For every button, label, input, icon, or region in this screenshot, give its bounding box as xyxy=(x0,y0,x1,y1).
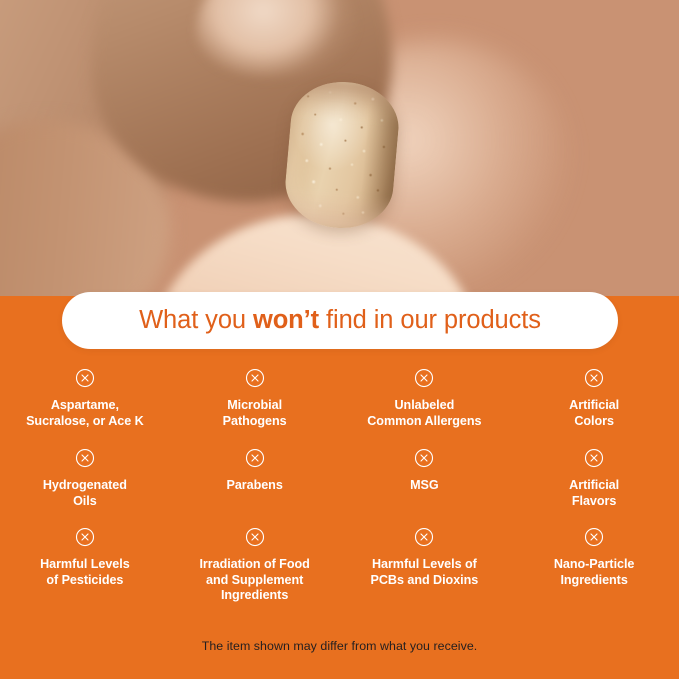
exclusion-item: Harmful Levels of PCBs and Dioxins xyxy=(340,527,510,613)
page-title: What you won’t find in our products xyxy=(139,306,541,335)
exclusion-label: Parabens xyxy=(226,478,282,494)
exclusions-row: Harmful Levels of Pesticides Irradiation… xyxy=(0,527,679,613)
exclusions-row: Aspartame, Sucralose, or Ace K Microbial… xyxy=(0,368,679,448)
circle-x-icon xyxy=(414,368,434,388)
circle-x-icon xyxy=(245,448,265,468)
exclusion-item: Hydrogenated Oils xyxy=(0,448,170,527)
exclusion-item: Harmful Levels of Pesticides xyxy=(0,527,170,613)
circle-x-icon xyxy=(75,527,95,547)
headline-prefix: What you xyxy=(139,306,253,334)
exclusion-label: Hydrogenated Oils xyxy=(43,478,127,509)
exclusion-item: Aspartame, Sucralose, or Ace K xyxy=(0,368,170,448)
exclusion-item: Unlabeled Common Allergens xyxy=(340,368,510,448)
exclusion-label: Irradiation of Food and Supplement Ingre… xyxy=(199,557,309,604)
circle-x-icon xyxy=(584,368,604,388)
exclusion-item: MSG xyxy=(340,448,510,527)
tablet-icon xyxy=(282,78,402,233)
exclusion-item: Nano-Particle Ingredients xyxy=(509,527,679,613)
exclusion-item: Artificial Colors xyxy=(509,368,679,448)
headline-emphasis: won’t xyxy=(253,306,319,334)
exclusion-label: Aspartame, Sucralose, or Ace K xyxy=(26,398,144,429)
product-info-graphic: What you won’t find in our products Aspa… xyxy=(0,0,679,679)
exclusion-label: Nano-Particle Ingredients xyxy=(554,557,635,588)
circle-x-icon xyxy=(414,527,434,547)
headline-pill: What you won’t find in our products xyxy=(62,292,618,349)
circle-x-icon xyxy=(245,368,265,388)
exclusion-label: Artificial Colors xyxy=(569,398,619,429)
exclusions-grid: Aspartame, Sucralose, or Ace K Microbial… xyxy=(0,368,679,613)
exclusion-item: Parabens xyxy=(170,448,340,527)
exclusion-label: Unlabeled Common Allergens xyxy=(367,398,481,429)
circle-x-icon xyxy=(414,448,434,468)
circle-x-icon xyxy=(75,448,95,468)
exclusion-label: Harmful Levels of Pesticides xyxy=(40,557,130,588)
exclusions-row: Hydrogenated Oils Parabens MSG Artificia… xyxy=(0,448,679,527)
circle-x-icon xyxy=(75,368,95,388)
exclusion-item: Artificial Flavors xyxy=(509,448,679,527)
exclusion-label: Microbial Pathogens xyxy=(223,398,287,429)
exclusion-label: Artificial Flavors xyxy=(569,478,619,509)
exclusion-label: Harmful Levels of PCBs and Dioxins xyxy=(371,557,479,588)
exclusion-label: MSG xyxy=(410,478,439,494)
exclusion-item: Irradiation of Food and Supplement Ingre… xyxy=(170,527,340,613)
circle-x-icon xyxy=(245,527,265,547)
product-photo xyxy=(0,0,679,300)
exclusion-item: Microbial Pathogens xyxy=(170,368,340,448)
headline-suffix: find in our products xyxy=(319,306,541,334)
circle-x-icon xyxy=(584,527,604,547)
circle-x-icon xyxy=(584,448,604,468)
disclaimer-text: The item shown may differ from what you … xyxy=(0,639,679,653)
